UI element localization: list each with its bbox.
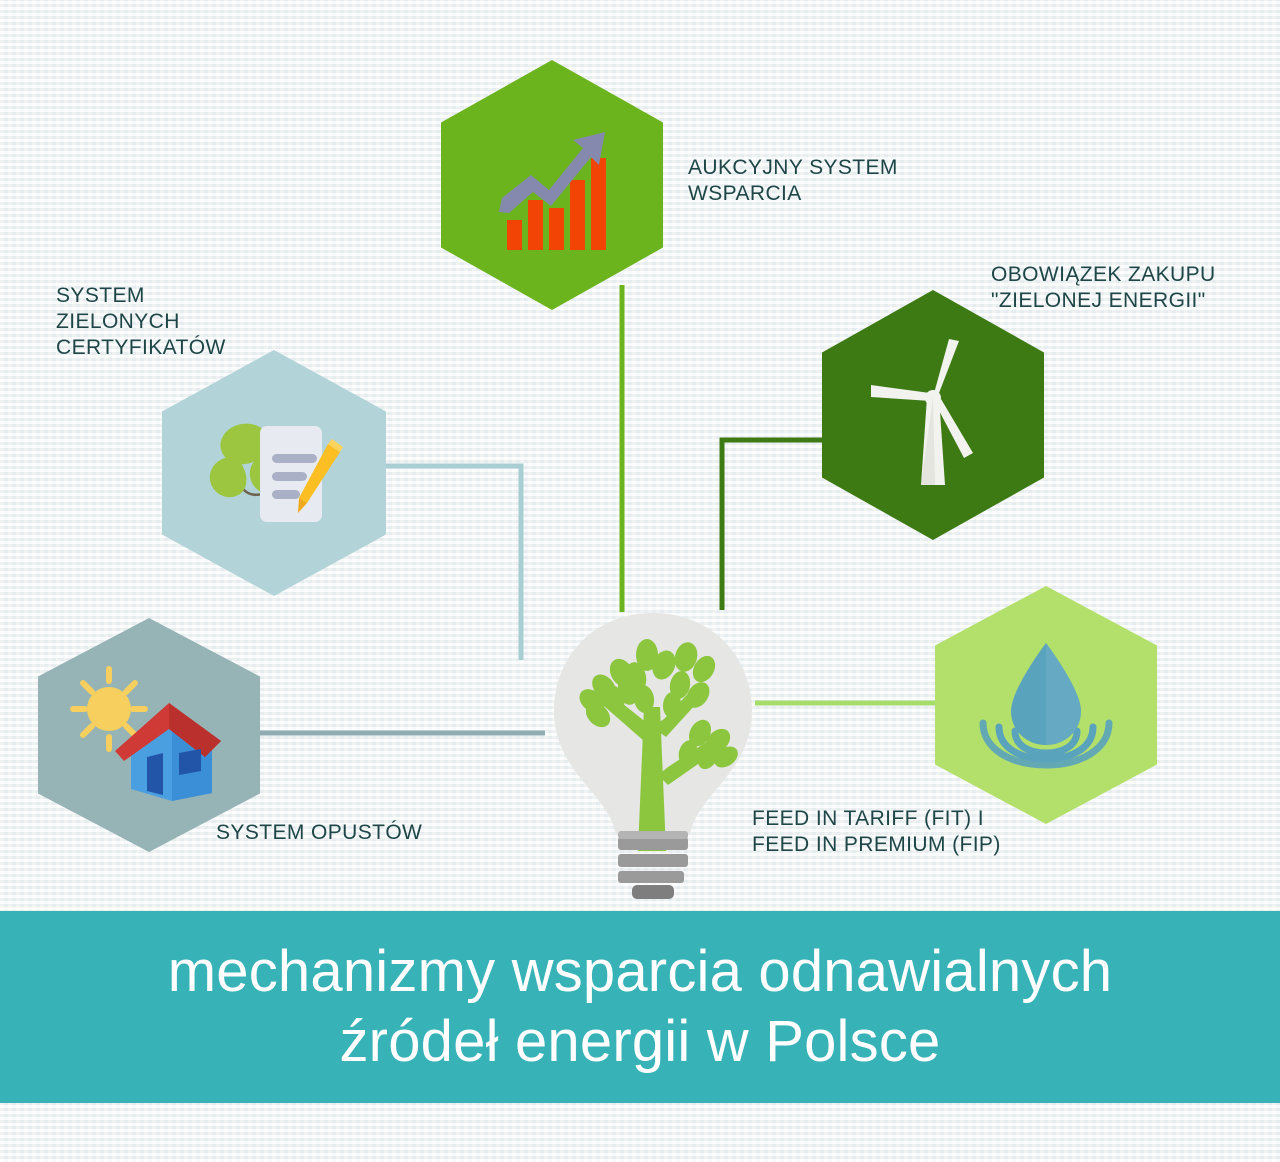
recycle-document-pencil-icon (200, 408, 348, 538)
title-banner: mechanizmy wsparcia odnawialnych źródeł … (0, 911, 1280, 1103)
label-net-metering: SYSTEM OPUSTÓW (216, 820, 546, 846)
lightbulb-with-tree-icon (548, 607, 758, 903)
label-green-energy-purchase: OBOWIĄZEK ZAKUPU "ZIELONEJ ENERGII" (991, 262, 1280, 314)
water-drop-ripple-icon (971, 635, 1121, 775)
banner-title: mechanizmy wsparcia odnawialnych źródeł … (138, 937, 1142, 1077)
connector-certificates (386, 466, 521, 660)
infographic-canvas: AUKCYJNY SYSTEM WSPARCIA SYSTEM ZIELONYC… (0, 0, 1280, 1162)
label-green-certificates: SYSTEM ZIELONYCH CERTYFIKATÓW (56, 283, 316, 361)
wind-turbine-icon (863, 335, 1003, 495)
center-lightbulb[interactable] (548, 607, 758, 903)
label-fit-fip: FEED IN TARIFF (FIT) I FEED IN PREMIUM (… (752, 806, 1072, 858)
bar-chart-growth-icon (487, 120, 617, 250)
label-auction-system: AUKCYJNY SYSTEM WSPARCIA (688, 155, 988, 207)
house-with-sun-icon (69, 665, 229, 805)
